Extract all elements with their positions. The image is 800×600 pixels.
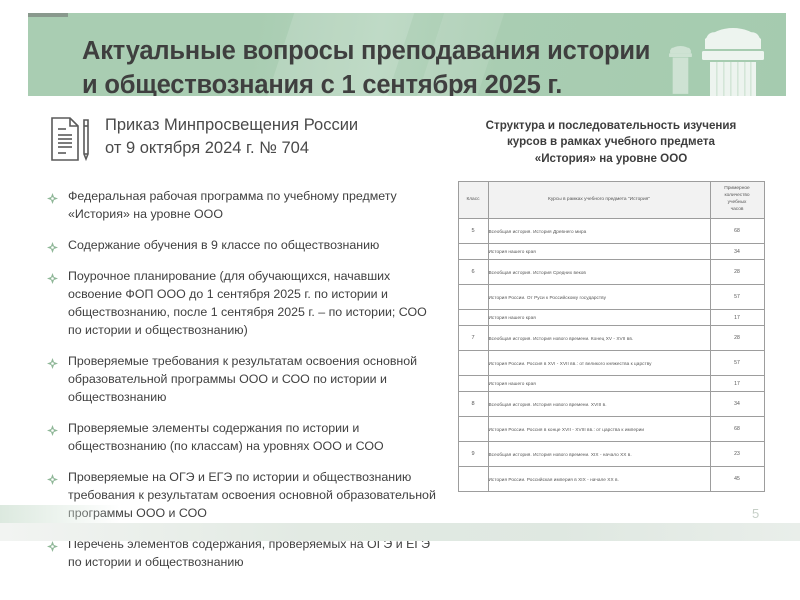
table-header-row: Класс Курсы в рамках учебного предмета "… (458, 182, 764, 219)
course-structure-table: Класс Курсы в рамках учебного предмета "… (458, 181, 765, 492)
list-item-text: Содержание обучения в 9 классе по общест… (68, 238, 379, 252)
cell-class (458, 285, 488, 310)
cell-class (458, 467, 488, 492)
table-row: 7Всеобщая история. История нового времен… (458, 326, 764, 351)
table-row: История России. Российская империя в XIX… (458, 467, 764, 492)
cell-class: 7 (458, 326, 488, 351)
column-header-hours-line-3: учебных (711, 200, 764, 207)
cell-class (458, 351, 488, 376)
list-item: Проверяемые требования к результатам осв… (46, 353, 438, 407)
slide-title-line-2: и обществознания с 1 сентября 2025 г. (82, 69, 682, 96)
diamond-bullet-icon (47, 192, 58, 203)
table-head: Класс Курсы в рамках учебного предмета "… (458, 182, 764, 219)
cell-class: 8 (458, 392, 488, 417)
cell-course: История России. От Руси к Российскому го… (488, 285, 710, 310)
order-title: Приказ Минпросвещения России от 9 октябр… (105, 112, 358, 161)
cell-hours: 57 (710, 285, 764, 310)
cell-course: Всеобщая история. История нового времени… (488, 326, 710, 351)
right-column: Структура и последовательность изучения … (452, 118, 770, 492)
column-header-class: Класс (458, 182, 488, 219)
cell-course: Всеобщая история. История Древнего мира (488, 219, 710, 244)
column-header-hours-line-4: часов (711, 207, 764, 214)
cell-hours: 45 (710, 467, 764, 492)
order-heading: Приказ Минпросвещения России от 9 октябр… (46, 112, 438, 164)
cell-class: 9 (458, 442, 488, 467)
list-item-text: Проверяемые требования к результатам осв… (68, 354, 417, 404)
cell-hours: 34 (710, 392, 764, 417)
cell-course: История России. Россия в конце XVII - XV… (488, 417, 710, 442)
cell-hours: 68 (710, 417, 764, 442)
table-row: 9Всеобщая история. История нового времен… (458, 442, 764, 467)
table-row: История нашего края34 (458, 244, 764, 260)
table-caption: Структура и последовательность изучения … (452, 118, 770, 167)
cell-hours: 17 (710, 310, 764, 326)
slide-title-line-1: Актуальные вопросы преподавания истории (82, 37, 650, 65)
cell-class (458, 244, 488, 260)
left-column: Приказ Минпросвещения России от 9 октябр… (46, 112, 438, 572)
cell-course: История России. Российская империя в XIX… (488, 467, 710, 492)
table-row: 5Всеобщая история. История Древнего мира… (458, 219, 764, 244)
diamond-bullet-icon (47, 241, 58, 252)
table-row: 8Всеобщая история. История нового времен… (458, 392, 764, 417)
table-caption-line-3: «История» на уровне ООО (452, 151, 770, 167)
cell-class (458, 417, 488, 442)
cell-hours: 57 (710, 351, 764, 376)
cell-hours: 28 (710, 260, 764, 285)
table-row: 6Всеобщая история. История Средних веков… (458, 260, 764, 285)
list-item: Федеральная рабочая программа по учебном… (46, 188, 438, 224)
list-item-text: Федеральная рабочая программа по учебном… (68, 189, 397, 221)
column-header-hours: Примерное количество учебных часов (710, 182, 764, 219)
cell-hours: 17 (710, 376, 764, 392)
slide-title: Актуальные вопросы преподавания истории … (82, 35, 682, 96)
cell-course: Всеобщая история. История нового времени… (488, 392, 710, 417)
table-caption-line-1: Структура и последовательность изучения (452, 118, 770, 134)
header-notch (28, 13, 68, 17)
order-title-line-2: от 9 октября 2024 г. № 704 (105, 137, 358, 160)
list-item: Перечень элементов содержания, проверяем… (46, 536, 438, 572)
cell-course: История России. Россия в XVI - XVII вв.:… (488, 351, 710, 376)
list-item-text: Поурочное планирование (для обучающихся,… (68, 269, 427, 337)
table-row: История нашего края17 (458, 310, 764, 326)
column-header-hours-line-1: Примерное (711, 186, 764, 193)
cell-course: История нашего края (488, 244, 710, 260)
diamond-bullet-icon (47, 357, 58, 368)
list-item: Содержание обучения в 9 классе по общест… (46, 237, 438, 255)
cell-course: История нашего края (488, 310, 710, 326)
cell-hours: 23 (710, 442, 764, 467)
table-caption-line-2: курсов в рамках учебного предмета (452, 134, 770, 150)
diamond-bullet-icon (47, 424, 58, 435)
list-item-text: Проверяемые элементы содержания по истор… (68, 421, 384, 453)
table-row: История России. Россия в XVI - XVII вв.:… (458, 351, 764, 376)
cell-hours: 34 (710, 244, 764, 260)
column-header-course: Курсы в рамках учебного предмета "Истори… (488, 182, 710, 219)
diamond-bullet-icon (47, 272, 58, 283)
header-banner: Актуальные вопросы преподавания истории … (28, 13, 786, 96)
list-item: Проверяемые элементы содержания по истор… (46, 420, 438, 456)
order-title-line-1: Приказ Минпросвещения России (105, 116, 358, 134)
cell-class: 5 (458, 219, 488, 244)
list-item-text: Проверяемые на ОГЭ и ЕГЭ по истории и об… (68, 470, 436, 520)
table-row: История России. Россия в конце XVII - XV… (458, 417, 764, 442)
list-item-text: Перечень элементов содержания, проверяем… (68, 537, 430, 569)
cell-course: История нашего края (488, 376, 710, 392)
page-number: 5 (752, 506, 759, 521)
table-row: История нашего края17 (458, 376, 764, 392)
diamond-bullet-icon (47, 473, 58, 484)
diamond-bullet-icon (47, 540, 58, 551)
cell-class: 6 (458, 260, 488, 285)
table-body: 5Всеобщая история. История Древнего мира… (458, 219, 764, 492)
document-with-pen-icon (46, 114, 92, 164)
cell-class (458, 376, 488, 392)
cell-hours: 68 (710, 219, 764, 244)
cell-course: Всеобщая история. История нового времени… (488, 442, 710, 467)
slide-canvas: Актуальные вопросы преподавания истории … (0, 0, 800, 600)
cell-course: Всеобщая история. История Средних веков (488, 260, 710, 285)
cell-hours: 28 (710, 326, 764, 351)
list-item: Поурочное планирование (для обучающихся,… (46, 268, 438, 340)
footer-accent (0, 505, 120, 523)
table-row: История России. От Руси к Российскому го… (458, 285, 764, 310)
cell-class (458, 310, 488, 326)
footer-band (0, 523, 800, 541)
